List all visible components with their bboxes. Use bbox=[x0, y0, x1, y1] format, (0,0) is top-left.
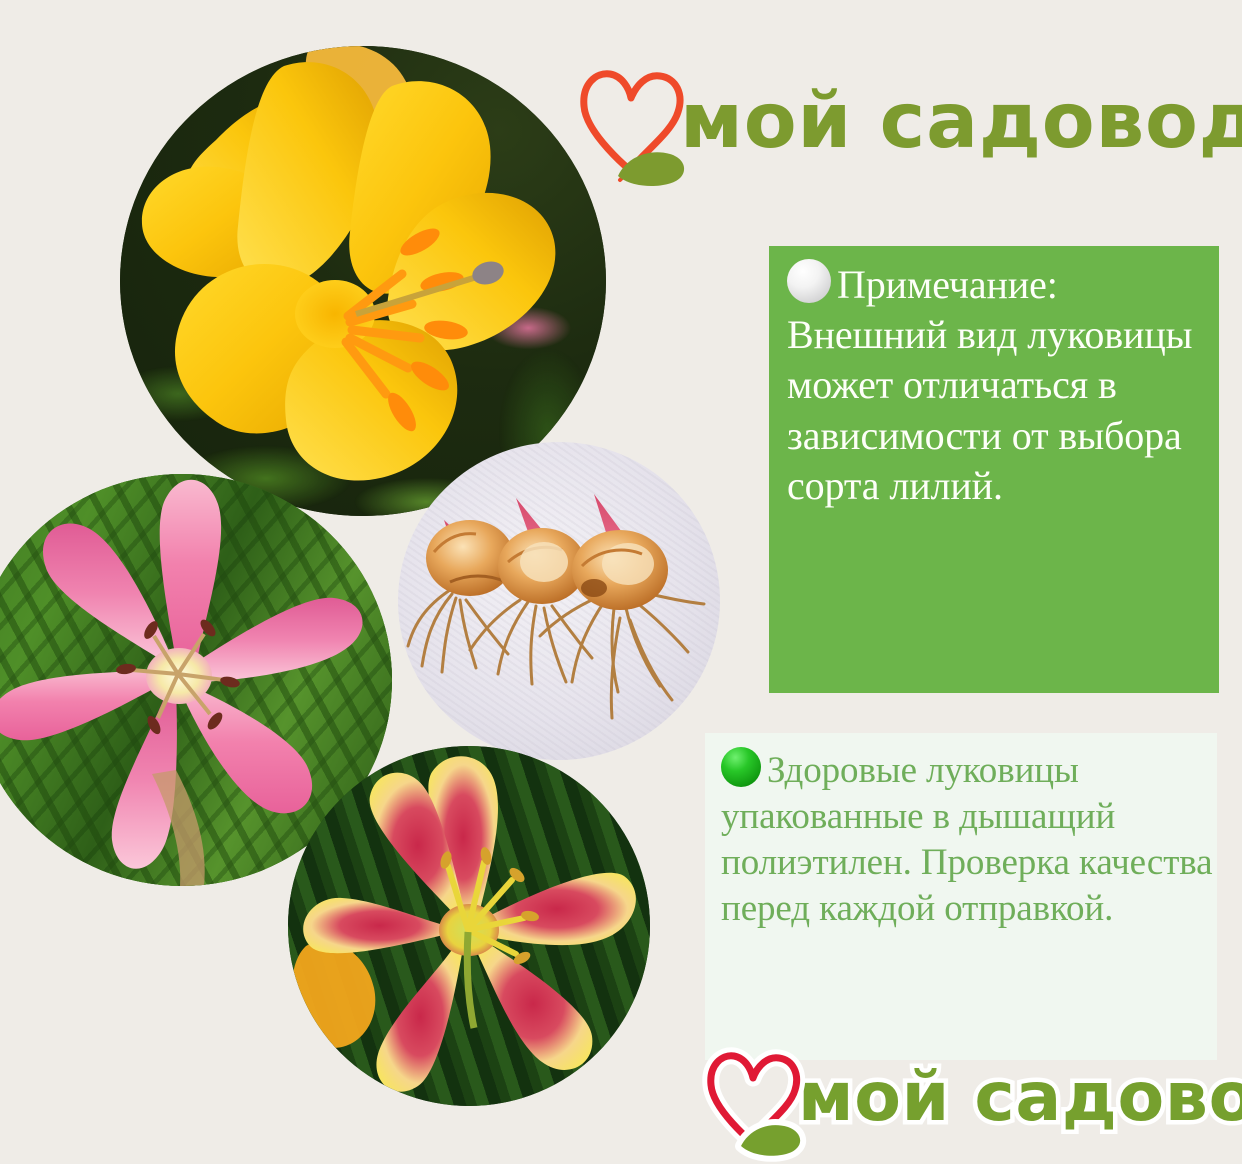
bicolor-lily-illustration bbox=[288, 746, 650, 1106]
photo-lily-bulbs bbox=[398, 442, 720, 760]
healthy-text-block: Здоровые луковицы упакованные в дышащий … bbox=[721, 747, 1213, 932]
heart-with-leaf-icon bbox=[706, 1046, 802, 1150]
brand-wordmark: мой садовод bbox=[680, 83, 1242, 160]
lily-bulbs-illustration bbox=[398, 442, 720, 760]
brand-logo-bottom[interactable]: мой садовод bbox=[706, 1046, 1242, 1150]
white-sphere-bullet-icon bbox=[787, 259, 831, 303]
note-heading: Примечание: bbox=[837, 262, 1058, 307]
healthy-text: Здоровые луковицы упакованные в дышащий … bbox=[721, 750, 1213, 929]
healthy-bulbs-callout-box: Здоровые луковицы упакованные в дышащий … bbox=[705, 733, 1217, 1060]
leaf-icon bbox=[578, 62, 686, 180]
green-sphere-bullet-icon bbox=[721, 747, 761, 787]
heart-with-leaf-icon bbox=[578, 62, 686, 180]
promo-card: мой садовод Примечание: Внешний вид луко… bbox=[0, 0, 1242, 1164]
note-text: Внешний вид луковицы может отличаться в … bbox=[787, 312, 1192, 508]
note-text-block: Примечание: Внешний вид луковицы может о… bbox=[787, 259, 1213, 511]
brand-wordmark: мой садовод bbox=[798, 1064, 1242, 1132]
leaf-icon bbox=[706, 1046, 802, 1150]
photo-bicolor-lily bbox=[288, 746, 650, 1106]
note-callout-box: Примечание: Внешний вид луковицы может о… bbox=[769, 246, 1219, 693]
brand-logo-top[interactable]: мой садовод bbox=[578, 62, 1242, 180]
